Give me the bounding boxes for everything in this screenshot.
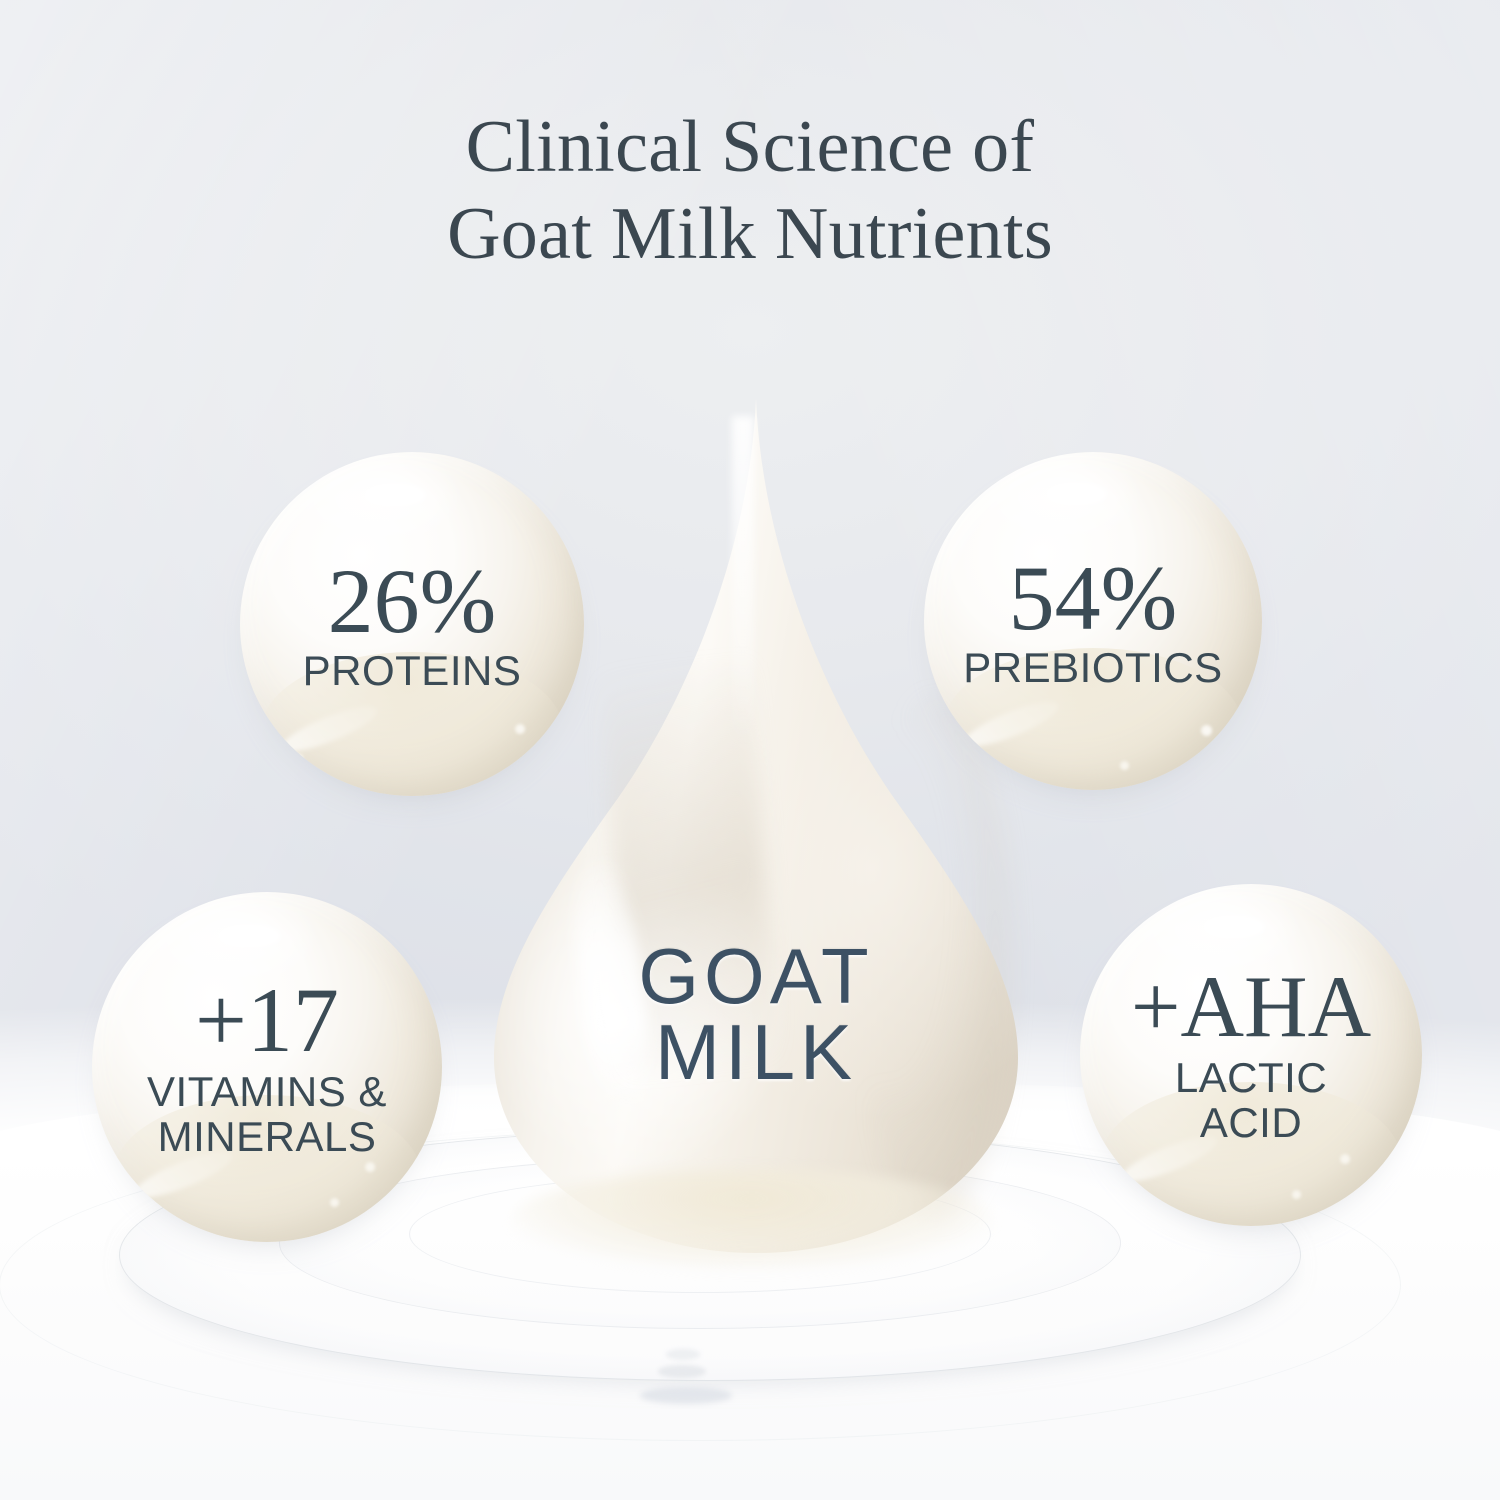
stat-label-aha-line-1: LACTIC [1175, 1056, 1327, 1101]
bubble-streak-icon [277, 698, 382, 759]
stat-label-prebiotics: PREBIOTICS [963, 646, 1222, 691]
bubble-dot-icon [1340, 1154, 1350, 1164]
bubble-dot-icon [1201, 725, 1212, 736]
stat-value-aha: +AHA [1131, 964, 1371, 1052]
stat-value-prebiotics: 54% [1009, 552, 1178, 644]
stat-bubble-aha[interactable]: +AHA LACTIC ACID [1080, 884, 1422, 1226]
bubble-glint-icon [218, 924, 281, 949]
droplet-label-line-2: MILK [494, 1014, 1018, 1090]
stat-value-proteins: 26% [328, 555, 497, 647]
bubble-dot-icon [1292, 1190, 1301, 1199]
bubble-dot-icon [515, 724, 525, 734]
stat-label-vitamins-line-2: MINERALS [158, 1115, 377, 1160]
stat-value-vitamins: +17 [195, 974, 339, 1066]
milk-splash-bead-2 [658, 1365, 706, 1378]
bubble-dot-icon [330, 1198, 339, 1207]
bubble-glint-icon [364, 483, 426, 507]
milk-droplet-base-glow [512, 1169, 992, 1269]
droplet-label: GOAT MILK [494, 938, 1018, 1091]
milk-splash-bead-3 [640, 1387, 732, 1404]
stat-bubble-prebiotics[interactable]: 54% PREBIOTICS [924, 452, 1262, 790]
bubble-glint-icon [1046, 482, 1107, 506]
bubble-dot-icon [295, 754, 303, 762]
page-title-line-2: Goat Milk Nutrients [0, 191, 1500, 278]
page-title: Clinical Science of Goat Milk Nutrients [0, 104, 1500, 277]
milk-droplet-top-highlight [732, 416, 754, 746]
bubble-glint-icon [1203, 915, 1265, 939]
stat-label-proteins: PROTEINS [303, 649, 522, 694]
droplet-label-line-1: GOAT [494, 938, 1018, 1014]
page-title-line-1: Clinical Science of [0, 104, 1500, 191]
infographic-canvas: Clinical Science of Goat Milk Nutrients … [0, 0, 1500, 1500]
milk-splash-bead-1 [666, 1349, 700, 1360]
bubble-dot-icon [1120, 761, 1129, 770]
stat-label-vitamins-line-1: VITAMINS & [147, 1070, 387, 1115]
stat-bubble-proteins[interactable]: 26% PROTEINS [240, 452, 584, 796]
stat-bubble-vitamins[interactable]: +17 VITAMINS & MINERALS [92, 892, 442, 1242]
bubble-dot-icon [365, 1162, 375, 1172]
milk-droplet-icon: GOAT MILK [494, 398, 1018, 1253]
stat-label-aha-line-2: ACID [1200, 1101, 1302, 1146]
